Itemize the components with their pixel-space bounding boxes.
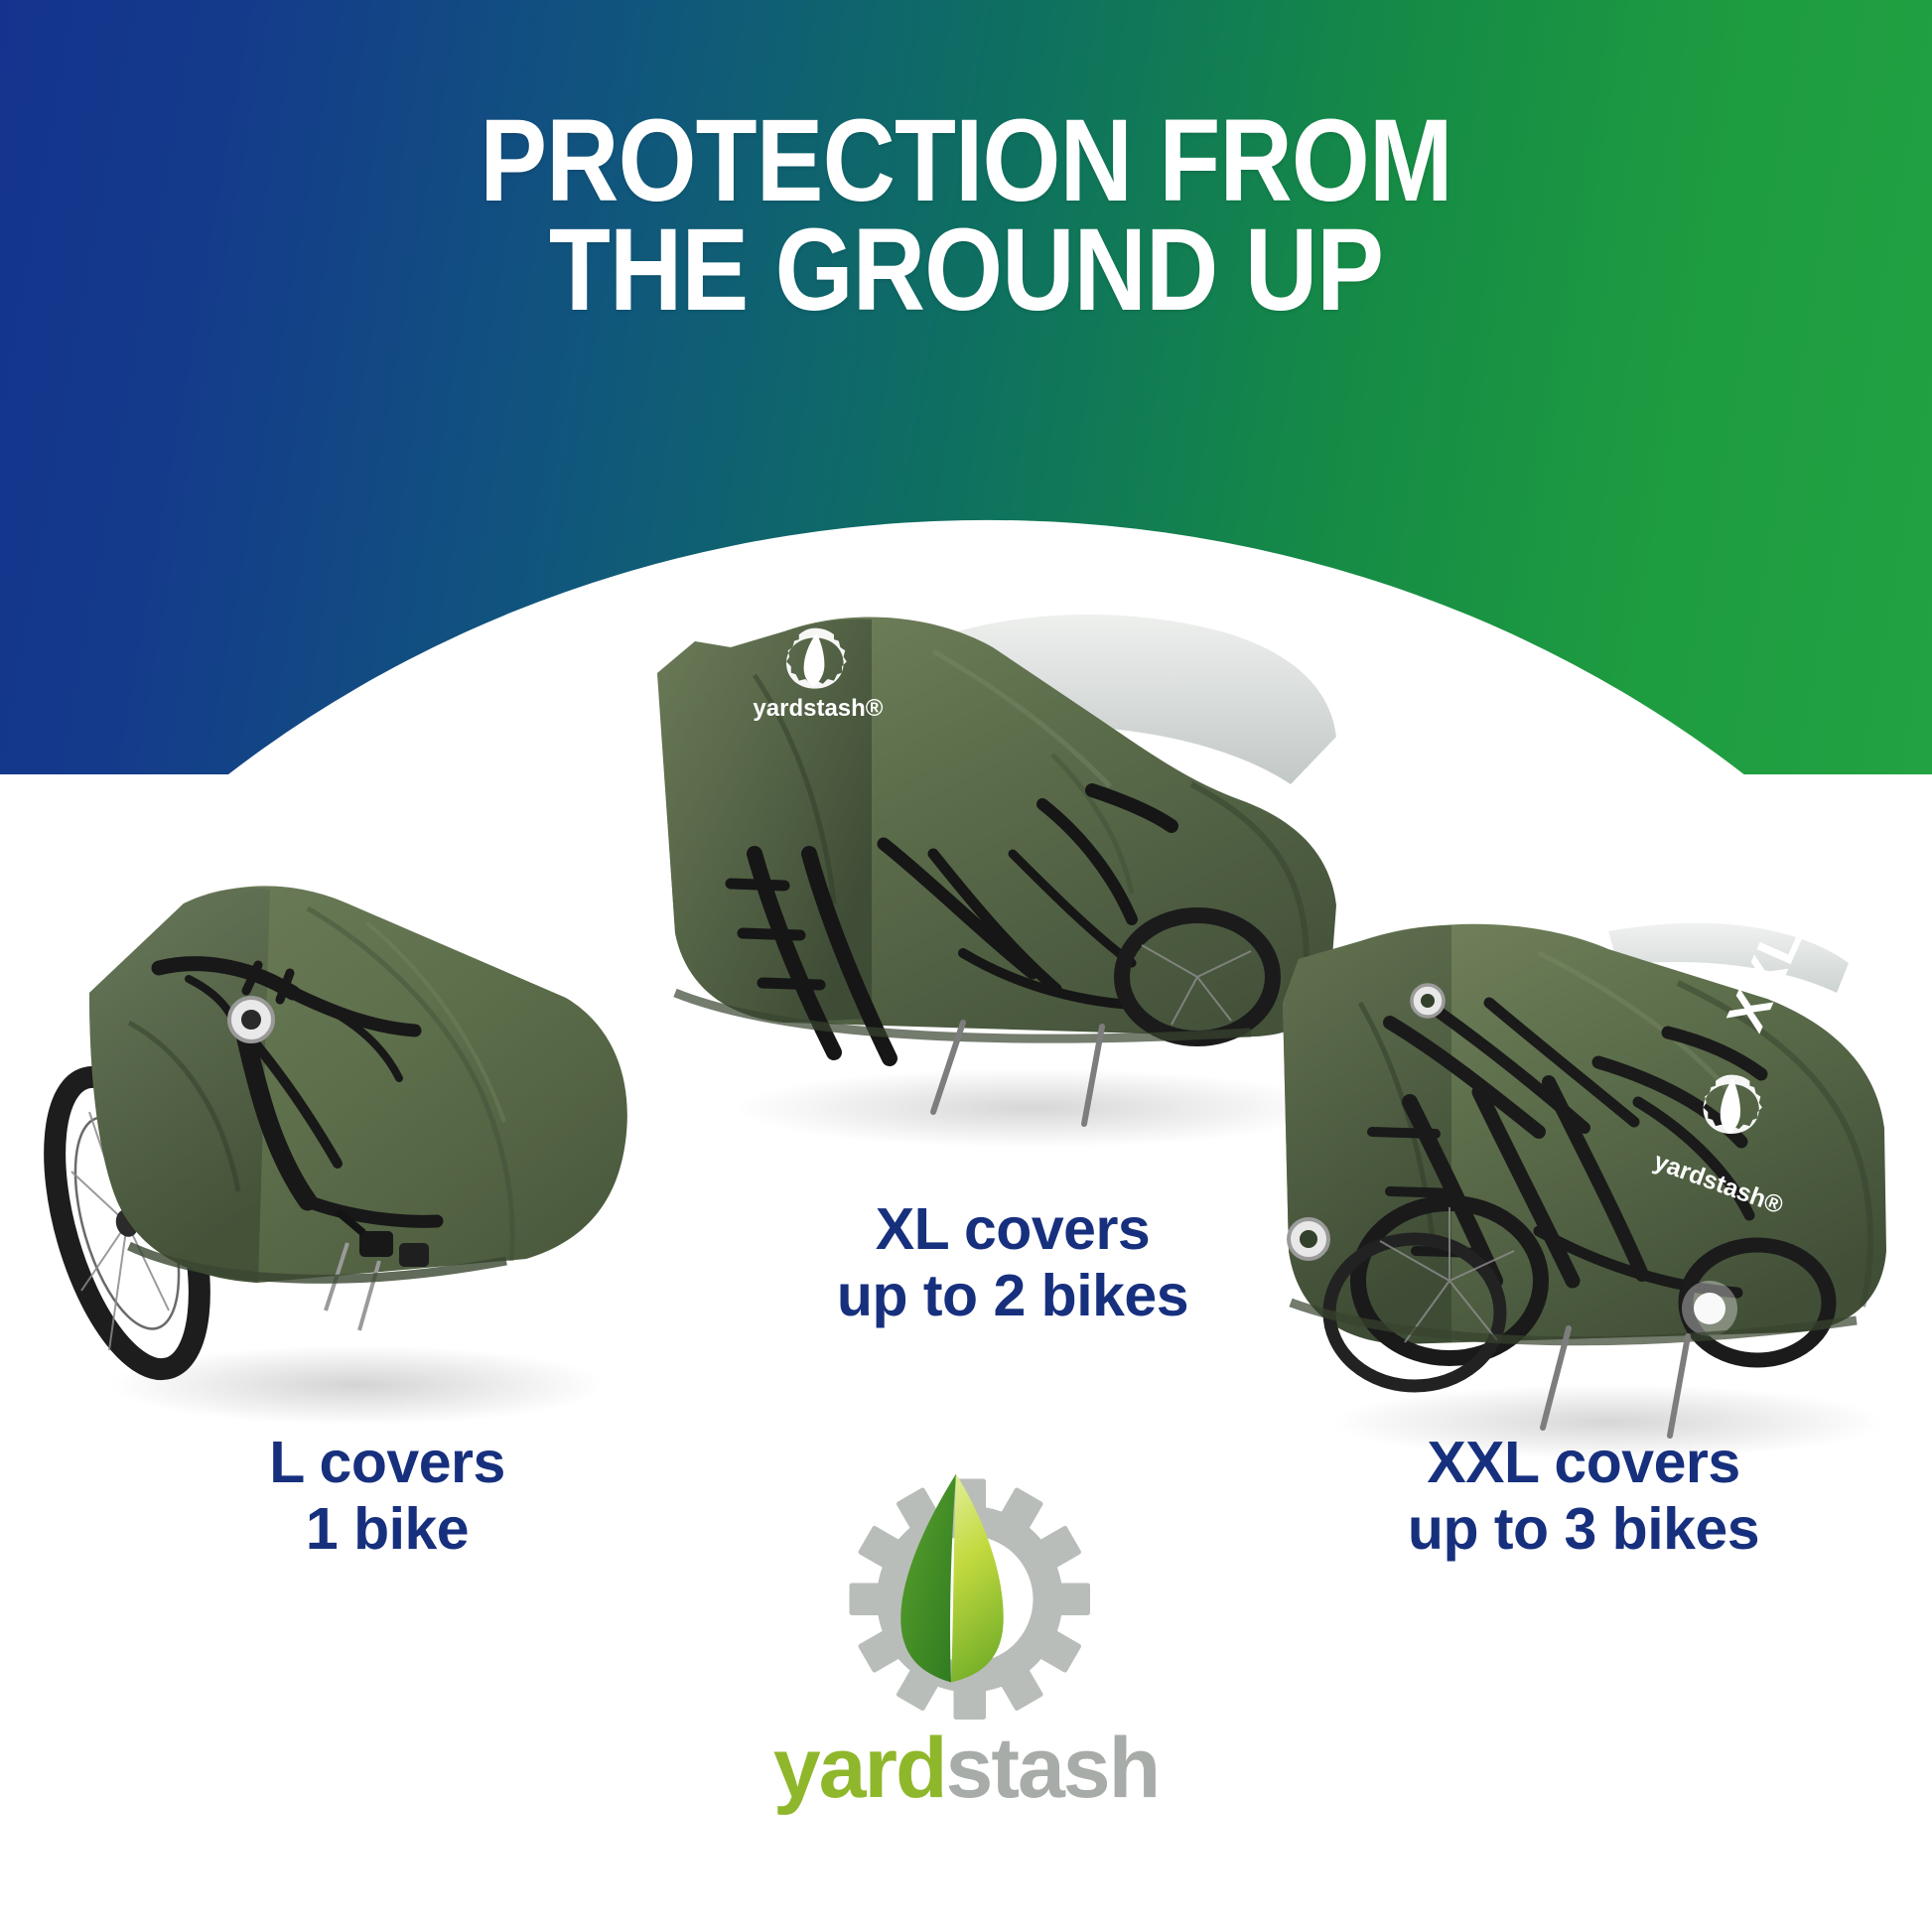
brand-wordmark: yardstash bbox=[668, 1725, 1264, 1811]
product-image-l bbox=[10, 794, 645, 1469]
page-title: PROTECTION FROM THE GROUND UP bbox=[135, 107, 1797, 325]
caption-xl: XL covers up to 2 bikes bbox=[685, 1196, 1340, 1328]
bike-cover-xxl-illustration: XXL yardstash® bbox=[1241, 854, 1932, 1489]
brand-word-stash: stash bbox=[946, 1721, 1160, 1816]
brand-logo: yardstash bbox=[668, 1471, 1264, 1811]
promo-image: PROTECTION FROM THE GROUND UP bbox=[0, 0, 1932, 1932]
bike-cover-l-illustration bbox=[10, 794, 645, 1469]
printed-brand-text-xl: yardstash® bbox=[753, 695, 883, 722]
brand-word-yard: yard bbox=[773, 1721, 946, 1816]
caption-xxl: XXL covers up to 3 bikes bbox=[1241, 1430, 1926, 1562]
product-image-xxl: XXL yardstash® bbox=[1241, 854, 1932, 1489]
caption-l: L covers 1 bike bbox=[60, 1430, 715, 1562]
gear-leaf-icon bbox=[842, 1471, 1090, 1720]
